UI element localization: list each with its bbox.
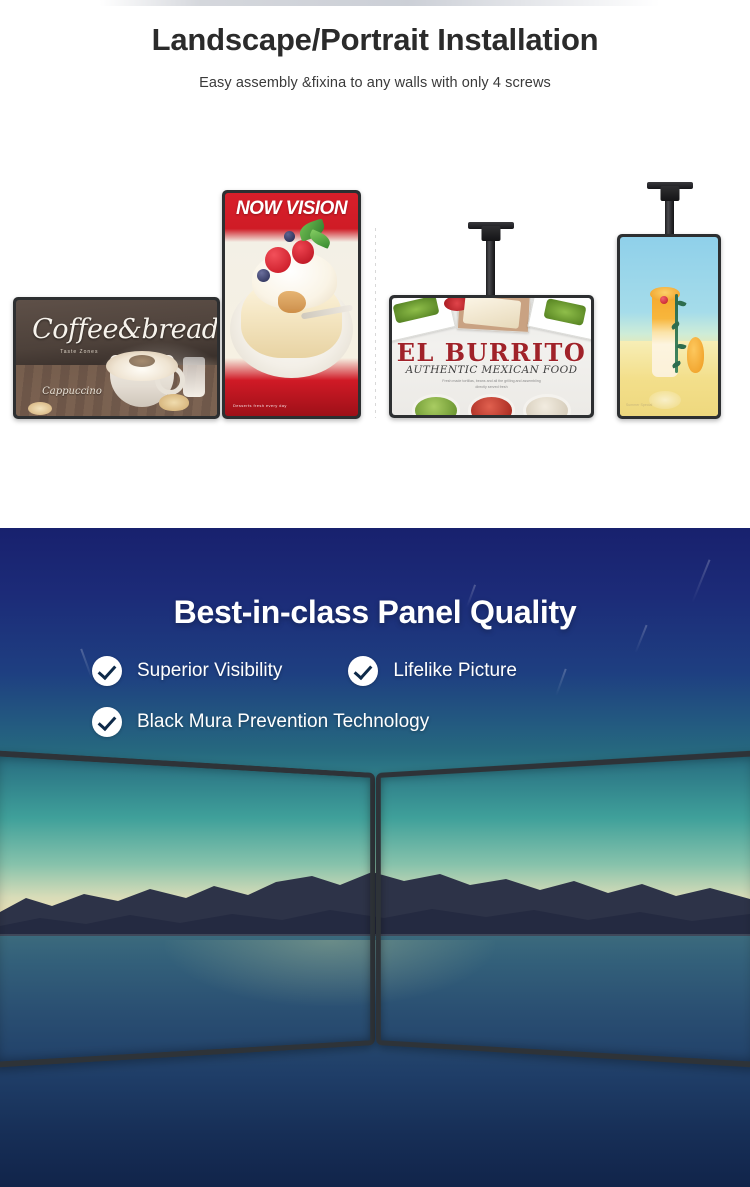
blueberry-2 — [284, 231, 295, 242]
feature-black-mura-prevention: Black Mura Prevention Technology — [92, 707, 429, 737]
check-icon — [92, 656, 122, 686]
coffee-headline: Coffee&bread — [32, 314, 217, 345]
display-screen-content: Summer Special — [620, 237, 718, 416]
feature-superior-visibility: Superior Visibility — [92, 656, 282, 686]
display-coffee-bread-landscape[interactable]: Coffee&bread Taste Zones Cappuccino — [13, 297, 220, 419]
display-screen-content: EL BURRITO AUTHENTIC MEXICAN FOOD Fresh … — [392, 298, 591, 415]
ceiling-mount-bracket — [481, 226, 500, 241]
ceiling-mount-bracket — [660, 186, 679, 201]
tv-panel-left[interactable] — [0, 750, 375, 1068]
surface-reflection — [649, 391, 680, 409]
page-title: Landscape/Portrait Installation — [0, 0, 750, 57]
display-mango-drink-portrait[interactable]: Summer Special — [617, 234, 721, 419]
syrup-drizzle — [278, 291, 306, 313]
top-edge-artifact — [100, 0, 660, 6]
burrito-headline: EL BURRITO — [392, 338, 591, 367]
coffee-subtext: Taste Zones — [60, 349, 98, 355]
mango-fruit — [687, 337, 705, 373]
vertical-dotted-divider — [375, 228, 376, 418]
feature-list: Superior Visibility Lifelike Picture Bla… — [92, 656, 710, 758]
feature-row-1: Superior Visibility Lifelike Picture — [92, 656, 710, 686]
burrito-fine-print: Fresh made tortillas, beans and all the … — [440, 378, 544, 391]
bread-piece — [159, 394, 189, 411]
display-screen-content: NOW VISION Desserts fresh every day — [225, 193, 358, 416]
installation-showcase: Coffee&bread Taste Zones Cappuccino N — [0, 170, 750, 460]
check-icon — [348, 656, 378, 686]
milk-glass — [183, 357, 205, 397]
display-el-burrito-landscape[interactable]: EL BURRITO AUTHENTIC MEXICAN FOOD Fresh … — [389, 295, 594, 418]
nowvision-headline: NOW VISION — [225, 198, 358, 220]
strawberry-1 — [265, 247, 291, 273]
feature-label: Black Mura Prevention Technology — [137, 711, 429, 733]
display-screen-content: Coffee&bread Taste Zones Cappuccino — [16, 300, 217, 416]
ceiling-mount-pole-burrito — [486, 222, 495, 300]
tv-panel-right[interactable] — [376, 750, 750, 1068]
panel-quality-section: Best-in-class Panel Quality Superior Vis… — [0, 528, 750, 1187]
mango-footnote: Summer Special — [626, 402, 652, 408]
feature-lifelike-picture: Lifelike Picture — [348, 656, 517, 686]
coffee-script-text: Cappuccino — [42, 386, 102, 397]
ceiling-mount-pole-mango — [665, 182, 674, 238]
display-now-vision-portrait[interactable]: NOW VISION Desserts fresh every day — [222, 190, 361, 419]
page-subtitle: Easy assembly &fixina to any walls with … — [0, 57, 750, 91]
bread-piece-2 — [28, 402, 52, 415]
strawberry-2 — [292, 240, 314, 264]
check-icon — [92, 707, 122, 737]
nowvision-footnote: Desserts fresh every day — [233, 403, 287, 409]
installation-section: Landscape/Portrait Installation Easy ass… — [0, 0, 750, 528]
feature-label: Superior Visibility — [137, 660, 282, 682]
panel-quality-title: Best-in-class Panel Quality — [0, 594, 750, 631]
blueberry-1 — [257, 269, 270, 282]
feature-label: Lifelike Picture — [393, 660, 517, 682]
burrito-subtitle: AUTHENTIC MEXICAN FOOD — [392, 364, 591, 376]
feature-row-2: Black Mura Prevention Technology — [92, 707, 710, 737]
